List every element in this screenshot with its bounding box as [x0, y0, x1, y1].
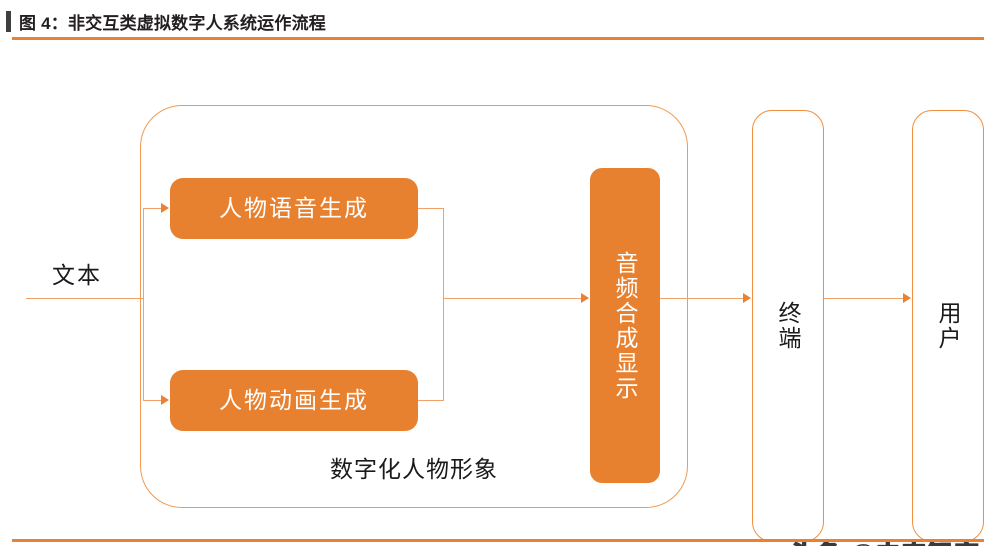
merge-vertical-bus	[443, 208, 444, 401]
node-audio-synthesis-display[interactable]: 音频合成显示	[590, 168, 660, 483]
branch-line-to-animation	[143, 400, 163, 401]
node-user[interactable]: 用户	[912, 110, 984, 542]
merge-line-from-voice	[418, 208, 444, 209]
page-title: 图 4：非交互类虚拟数字人系统运作流程	[19, 9, 326, 34]
arrowhead-to-user	[903, 293, 911, 303]
figure-header: 图 4：非交互类虚拟数字人系统运作流程	[0, 0, 996, 38]
node-terminal[interactable]: 终端	[752, 110, 824, 542]
node-audio-synthesis-display-label: 音频合成显示	[611, 251, 639, 401]
diagram-canvas: 文本 数字化人物形象 人物语音生成 人物动画生成 音频合成显示	[0, 40, 996, 538]
node-terminal-label: 终端	[774, 301, 802, 351]
arrowhead-to-terminal	[743, 293, 751, 303]
connector-audio-to-terminal	[660, 298, 745, 299]
footer-divider	[12, 539, 984, 542]
arrowhead-to-voice	[161, 203, 169, 213]
node-user-label: 用户	[934, 301, 962, 351]
figure-page: 图 4：非交互类虚拟数字人系统运作流程 文本 数字化人物形象 人物语音生成 人物…	[0, 0, 996, 546]
connector-terminal-to-user	[824, 298, 905, 299]
node-animation-generation[interactable]: 人物动画生成	[170, 370, 418, 431]
input-label-text: 文本	[52, 256, 102, 290]
node-voice-generation-label: 人物语音生成	[219, 197, 369, 220]
title-accent-bar	[6, 11, 11, 32]
node-voice-generation[interactable]: 人物语音生成	[170, 178, 418, 239]
input-connector-line	[26, 298, 144, 299]
arrowhead-to-audio-synthesis	[581, 293, 589, 303]
merge-line-to-audio	[443, 298, 583, 299]
input-split-vertical	[143, 208, 144, 400]
merge-line-from-animation	[418, 400, 444, 401]
branch-line-to-voice	[143, 208, 163, 209]
arrowhead-to-animation	[161, 395, 169, 405]
node-animation-generation-label: 人物动画生成	[219, 389, 369, 412]
